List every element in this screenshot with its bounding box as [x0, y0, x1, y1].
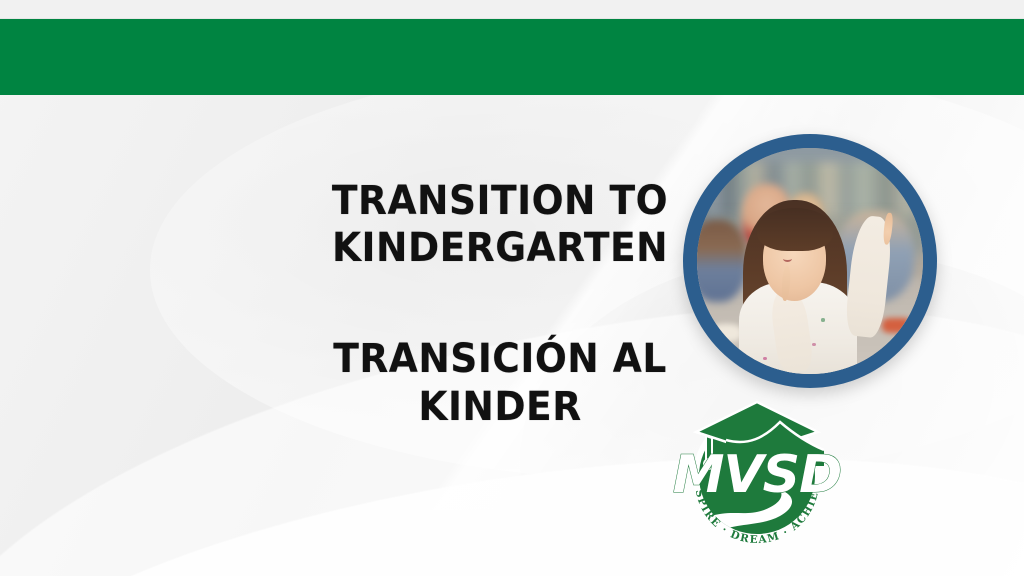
classroom-photo-ring — [683, 134, 937, 388]
photo-foreground-girl — [733, 189, 891, 374]
title-english-line1: TRANSITION TO — [303, 178, 698, 225]
title-spanish-line2: KINDER — [303, 384, 698, 431]
mvsd-logo: MVSD INSPIRE · DREAM · ACHIEVE — [668, 388, 846, 548]
title-english: TRANSITION TO KINDERGARTEN — [303, 178, 698, 272]
shirt-floral-dot — [777, 373, 781, 374]
shirt-floral-dot — [821, 318, 825, 321]
title-spanish-line1: TRANSICIÓN AL — [303, 336, 698, 383]
green-header-bar — [0, 19, 1024, 95]
girl-raised-arm — [844, 214, 894, 338]
girl-smile — [783, 255, 792, 262]
presentation-slide: TRANSITION TO KINDERGARTEN TRANSICIÓN AL… — [0, 0, 1024, 576]
top-margin-strip — [0, 0, 1024, 19]
title-english-line2: KINDERGARTEN — [303, 225, 698, 272]
title-block: TRANSITION TO KINDERGARTEN TRANSICIÓN AL… — [290, 178, 710, 431]
shirt-floral-dot — [763, 357, 767, 360]
classroom-photo — [697, 148, 923, 374]
title-spanish: TRANSICIÓN AL KINDER — [303, 336, 698, 430]
girl-fringe — [757, 208, 833, 251]
shirt-floral-dot — [812, 343, 816, 346]
